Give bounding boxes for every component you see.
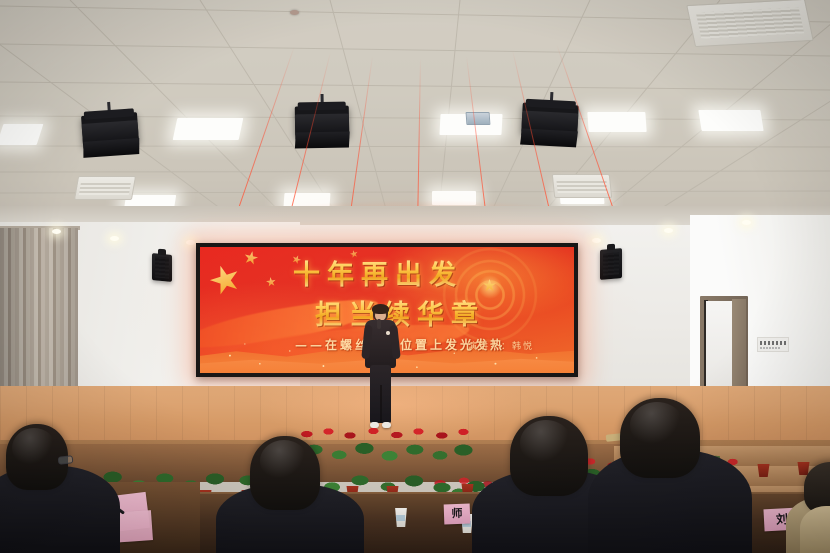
ceiling-panel-light (587, 112, 646, 132)
star-icon (291, 254, 303, 266)
smoke-detector-icon (290, 10, 299, 15)
stage-light-barndoor (295, 132, 350, 149)
presenter-hair (372, 304, 389, 314)
stage-light-yoke (298, 102, 346, 111)
ceiling-panel-light (0, 124, 43, 145)
star-icon (349, 249, 359, 259)
air-conditioning-vent (686, 0, 814, 47)
stage-light (81, 112, 139, 146)
speaker-mount (158, 249, 166, 256)
speaker-mount (607, 244, 615, 251)
audience-head-highlight (520, 420, 572, 466)
air-conditioning-vent (74, 176, 136, 200)
audience-head-highlight (630, 402, 684, 448)
star-icon (206, 261, 244, 299)
ceiling-panel-light (698, 110, 763, 131)
microphone-icon (377, 319, 381, 329)
recessed-downlight (52, 229, 61, 234)
star-icon (243, 250, 260, 267)
stage-light (295, 106, 350, 137)
recessed-downlight (742, 220, 751, 225)
eyeglasses (58, 455, 74, 465)
name-card-text: 师 (444, 504, 471, 525)
screen-presenter-label: 演讲人：韩悦 (468, 339, 534, 352)
conference-hall-photo: 十年再出发 担当续华章 ——在螺丝钉的位置上发光发热 演讲人：韩悦 (0, 0, 830, 553)
wall-speaker (152, 253, 172, 282)
presenter-leg-split (380, 385, 382, 423)
ceiling-sign (466, 112, 491, 125)
ceiling (0, 0, 830, 232)
star-icon (265, 276, 276, 287)
wall-speaker (600, 248, 622, 280)
wall-sign (757, 337, 789, 352)
recessed-downlight (664, 228, 673, 233)
presenter-person (362, 305, 400, 435)
recessed-downlight (592, 238, 601, 243)
recessed-downlight (186, 240, 195, 245)
name-card[interactable]: 师 (444, 504, 471, 525)
stage-light-yoke (526, 99, 576, 110)
audience-head-highlight (12, 428, 56, 468)
potted-plant-row (296, 440, 476, 464)
stage-light-barndoor (520, 129, 578, 148)
ceiling-panel-light (173, 118, 244, 140)
audience-head-highlight (260, 440, 308, 482)
recessed-downlight (110, 236, 119, 241)
